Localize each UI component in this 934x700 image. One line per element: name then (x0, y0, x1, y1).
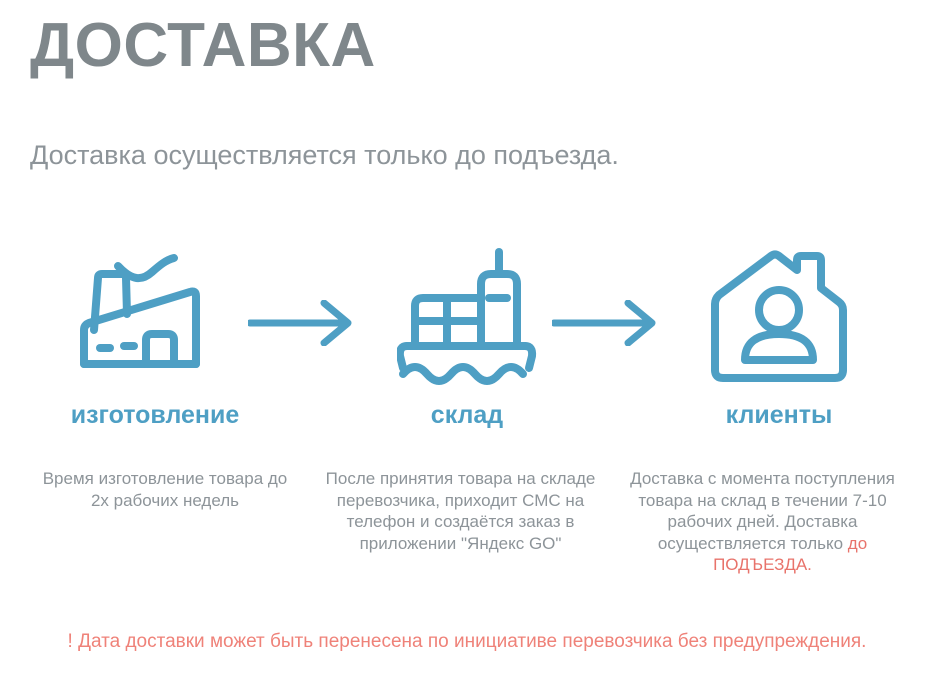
page-subtitle: Доставка осуществляется только до подъез… (30, 136, 650, 174)
flow-stage-clients: клиенты (634, 244, 924, 430)
page-title: ДОСТАВКА (30, 10, 376, 82)
house-with-person-icon (634, 244, 924, 392)
stage-description-warehouse: После принятия товара на складе перевозч… (318, 468, 603, 554)
stage-label-clients: клиенты (634, 400, 924, 430)
stage-description-clients: Доставка с момента поступления товара на… (620, 468, 905, 576)
delivery-info-slide: ДОСТАВКА Доставка осуществляется только … (0, 0, 934, 700)
footer-warning-note: ! Дата доставки может быть перенесена по… (47, 628, 887, 655)
stage-label-warehouse: склад (322, 400, 612, 430)
stage-label-manufacturing: изготовление (10, 400, 300, 430)
stage-description-manufacturing: Время изготовление товара до 2х рабочих … (35, 468, 295, 511)
stage-descriptions: Время изготовление товара до 2х рабочих … (0, 468, 934, 598)
delivery-flow-diagram: изготовление (0, 244, 934, 444)
